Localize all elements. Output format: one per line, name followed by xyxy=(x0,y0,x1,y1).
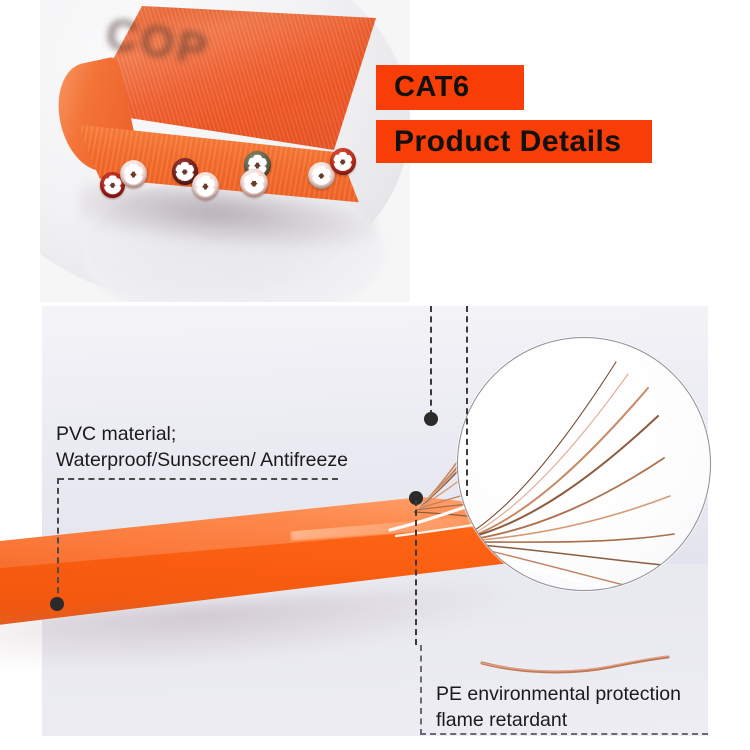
top-panel: COP xyxy=(40,0,712,302)
leader-line-upper-right xyxy=(466,306,468,496)
callout-pvc-material: PVC material; Waterproof/Sunscreen/ Anti… xyxy=(56,421,386,473)
leader-line-upper-left xyxy=(430,306,432,416)
conductor-strands xyxy=(333,152,352,172)
cable-illustration: COP xyxy=(62,6,392,236)
cable-cross-section-photo: COP xyxy=(40,0,410,302)
product-detail-page: COP xyxy=(0,0,750,750)
conductor-pair1-white xyxy=(120,160,147,188)
magnifier-strands xyxy=(458,338,710,590)
callout-dot-upper-left xyxy=(424,412,438,426)
callout-pe-flame-retardant: PE environmental protection flame retard… xyxy=(436,681,716,733)
callout-pvc-line1: PVC material; xyxy=(56,421,386,447)
conductor-strands xyxy=(124,164,144,185)
leader-line-pvc-horizontal xyxy=(58,478,338,480)
callout-pvc-line2: Waterproof/Sunscreen/ Antifreeze xyxy=(56,447,386,473)
callout-pe-line1: PE environmental protection xyxy=(436,681,716,707)
badge-product-details-label: Product Details xyxy=(394,125,622,159)
conductor-strands xyxy=(103,175,122,194)
conductor-strands xyxy=(312,166,332,186)
pe-copper-wire-sample xyxy=(480,655,670,677)
leader-line-pe xyxy=(415,500,417,645)
conductor-strands xyxy=(244,173,265,194)
conductor-group xyxy=(62,6,392,236)
badge-product-details: Product Details xyxy=(376,120,652,163)
conductor-strands xyxy=(196,176,216,197)
badge-cat6: CAT6 xyxy=(376,65,524,110)
badge-cat6-label: CAT6 xyxy=(394,71,470,104)
leader-line-pvc-vertical xyxy=(57,478,59,603)
callout-pe-line2: flame retardant xyxy=(436,707,716,733)
copper-strand-magnifier xyxy=(457,337,711,591)
conductor-pair3-white xyxy=(240,169,268,197)
callout-dot-pvc xyxy=(50,597,64,611)
conductor-strands xyxy=(175,162,194,182)
conductor-pair4-red xyxy=(330,148,356,175)
conductor-pair2-white xyxy=(192,172,219,200)
